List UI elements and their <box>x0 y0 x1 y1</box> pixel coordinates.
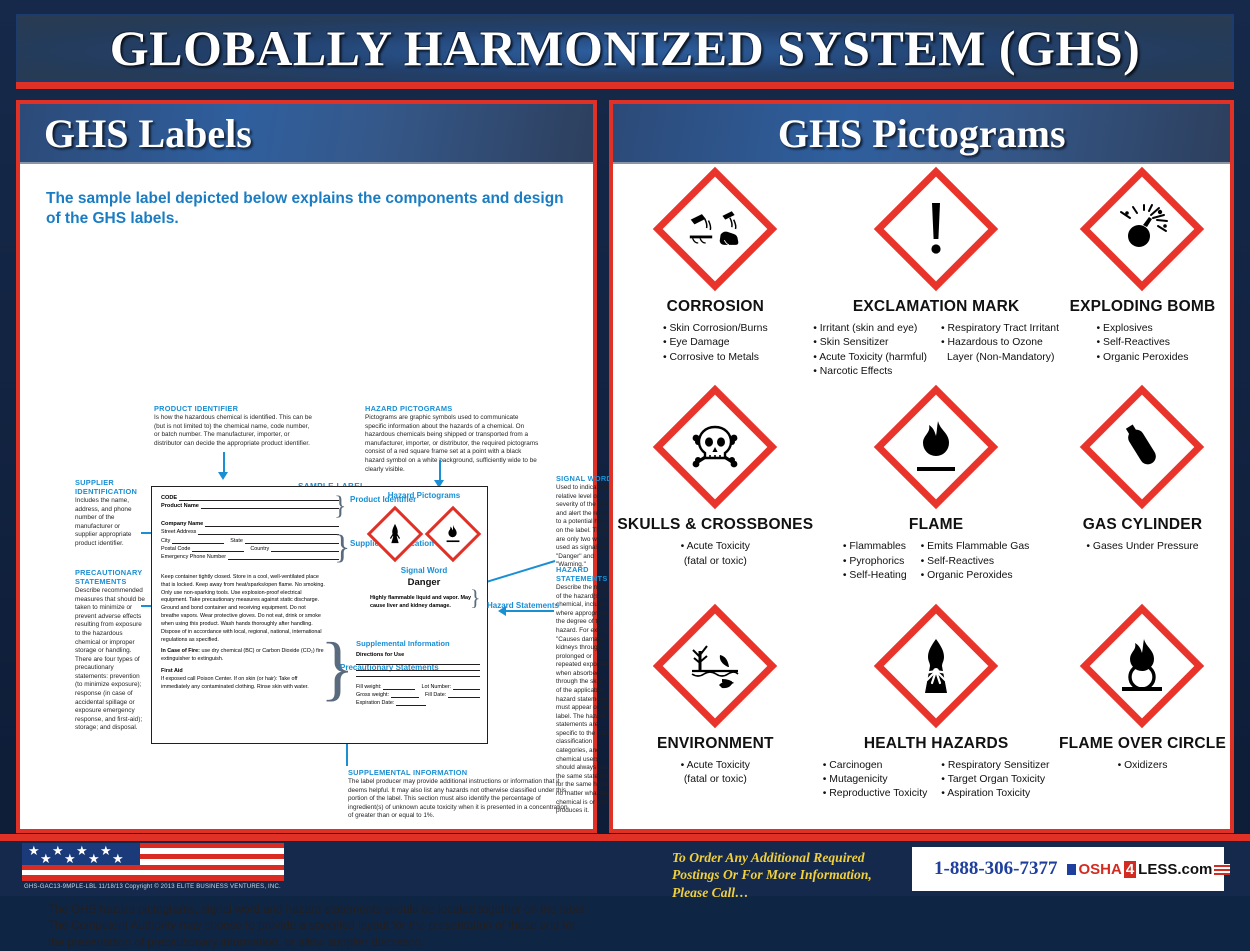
list-item: • Skin Sensitizer <box>813 336 927 350</box>
section-body: The GHS hazard pictograms, signal word a… <box>48 902 588 951</box>
order-instructions: To Order Any Additional Required Posting… <box>672 849 872 901</box>
list-item: • Gases Under Pressure <box>1086 540 1198 554</box>
exclamation-mark-icon <box>899 192 973 266</box>
diamond-wrap <box>671 170 759 288</box>
exploding-bomb-icon <box>1105 192 1179 266</box>
bullet-list-left: • Acute Toxicity (fatal or toxic) <box>681 540 750 569</box>
field-line <box>448 692 480 698</box>
diamond-wrap <box>671 388 759 506</box>
field-line <box>245 538 339 544</box>
pictograms-caption: Hazard Pictograms <box>364 491 484 500</box>
sample-hazard-text: Highly flammable liquid and vapor. May c… <box>370 595 476 610</box>
blank-line <box>356 676 480 677</box>
gas-cylinder-icon <box>1105 410 1179 484</box>
pictogram-cell-exploding-bomb: EXPLODING BOMB • Explosives • Self-React… <box>1059 170 1226 388</box>
note-hazard-pictograms: HAZARD PICTOGRAMS Pictograms are graphic… <box>365 404 541 474</box>
pictogram-grid: CORROSION • Skin Corrosion/Burns • Eye D… <box>613 164 1230 829</box>
fire-label: In Case of Fire: <box>161 648 200 654</box>
list-item: • Oxidizers <box>1118 759 1168 773</box>
pictogram-bullets: • Carcinogen • Mutagenicity • Reproducti… <box>823 759 1050 802</box>
note-heading: SUPPLEMENTAL INFORMATION <box>348 768 570 777</box>
list-item: (fatal or toxic) <box>681 555 750 569</box>
diamond-frame <box>653 385 777 509</box>
bullet-list-left: • Skin Corrosion/Burns • Eye Damage • Co… <box>663 322 768 365</box>
list-item: (fatal or toxic) <box>681 773 750 787</box>
precautionary-statements-text: Keep container tightly closed. Store in … <box>161 574 325 692</box>
diamond-frame <box>653 603 777 727</box>
diamond-wrap <box>892 170 980 288</box>
field-line <box>228 554 339 560</box>
list-item: • Mutagenicity <box>823 773 928 787</box>
sample-label-box: CODE Product Name } Product Identifier C… <box>151 486 488 744</box>
poster-header: GLOBALLY HARMONIZED SYSTEM (GHS) <box>16 14 1234 82</box>
ghs-pictograms-header: GHS Pictograms <box>613 104 1230 164</box>
connector-product <box>223 452 225 474</box>
list-item: • Self-Heating <box>843 569 907 583</box>
blank-line <box>356 664 480 665</box>
first-aid-label: First Aid <box>161 668 183 674</box>
field-label: Fill weight: <box>356 684 381 690</box>
field-label: City <box>161 538 170 544</box>
field-label: Lot Number: <box>421 684 451 690</box>
pictogram-bullets: • Acute Toxicity (fatal or toxic) <box>681 759 750 788</box>
note-body: Includes the name, address, and phone nu… <box>75 497 141 548</box>
contact-card[interactable]: 1-888-306-7377 OSHA 4 LESS.com <box>912 847 1224 891</box>
diamond-frame <box>874 385 998 509</box>
supplemental-information-block: Supplemental Information Directions for … <box>356 639 480 709</box>
pictogram-name: ENVIRONMENT <box>657 735 774 753</box>
diamond-frame <box>653 167 777 291</box>
mini-health-hazard-icon <box>367 506 424 563</box>
note-body: Describe recommended measures that shoul… <box>75 587 145 733</box>
note-precautionary-statements: PRECAUTIONARY STATEMENTS Describe recomm… <box>75 568 145 733</box>
field-label: Company Name <box>161 521 203 527</box>
bullet-list-left: • Explosives • Self-Reactives • Organic … <box>1096 322 1188 365</box>
panels-container: GHS Labels The sample label depicted bel… <box>16 100 1234 833</box>
field-label: Postal Code <box>161 546 190 552</box>
field-label: Street Address <box>161 529 196 535</box>
list-item: • Target Organ Toxicity <box>941 773 1049 787</box>
pictogram-cell-gas-cylinder: GAS CYLINDER • Gases Under Pressure <box>1059 388 1226 606</box>
pictogram-name: HEALTH HAZARDS <box>864 735 1009 753</box>
diamond-wrap <box>1098 170 1186 288</box>
order-line-2: Postings Or For More Information, <box>672 866 872 883</box>
diamond-frame <box>874 167 998 291</box>
ghs-labels-panel: GHS Labels The sample label depicted bel… <box>16 100 597 833</box>
header-red-rule <box>16 82 1234 89</box>
list-item: • Carcinogen <box>823 759 928 773</box>
first-aid-text: If exposed call Poison Center. If on ski… <box>161 676 325 692</box>
pictogram-cell-skull-crossbones: SKULLS & CROSSBONES • Acute Toxicity (fa… <box>617 388 813 606</box>
field-line <box>201 503 339 509</box>
ghs-labels-body: The sample label depicted below explains… <box>20 164 593 829</box>
pictogram-cell-exclamation-mark: EXCLAMATION MARK • Irritant (skin and ey… <box>813 170 1059 388</box>
note-supplier-identification: SUPPLIER IDENTIFICATION Includes the nam… <box>75 478 141 549</box>
phone-number[interactable]: 1-888-306-7377 <box>934 858 1057 880</box>
note-heading: HAZARD PICTOGRAMS <box>365 404 541 413</box>
note-heading: PRECAUTIONARY STATEMENTS <box>75 568 145 586</box>
list-item: • Flammables <box>843 540 907 554</box>
logo-square <box>1067 864 1076 875</box>
pictogram-bullets: • Irritant (skin and eye) • Skin Sensiti… <box>813 322 1059 379</box>
field-label: Product Name <box>161 503 199 509</box>
pictogram-cell-environment: ENVIRONMENT • Acute Toxicity (fatal or t… <box>617 607 813 825</box>
field-line <box>192 546 244 552</box>
copyright-text: GHS-GAC13-9MPLE-LBL 11/18/13 Copyright ©… <box>24 884 281 890</box>
list-item: • Emits Flammable Gas <box>921 540 1030 554</box>
pictogram-name: CORROSION <box>667 298 764 316</box>
osha4less-logo[interactable]: OSHA 4 LESS.com <box>1067 861 1230 878</box>
connector-pictograms <box>439 460 441 482</box>
field-label: CODE <box>161 495 177 501</box>
list-item: • Skin Corrosion/Burns <box>663 322 768 336</box>
list-item: • Hazardous to Ozone <box>941 336 1059 350</box>
note-heading: PRODUCT IDENTIFIER <box>154 404 314 413</box>
pictogram-cell-flame: FLAME • Flammables • Pyrophorics • Self-… <box>813 388 1059 606</box>
field-label: Fill Date: <box>425 692 446 698</box>
pictogram-name: SKULLS & CROSSBONES <box>617 516 813 534</box>
supplier-identification-fields: Company Name Street Address City State P… <box>161 521 339 560</box>
list-item: • Respiratory Sensitizer <box>941 759 1049 773</box>
blank-line <box>356 670 480 671</box>
list-item: • Respiratory Tract Irritant <box>941 322 1059 336</box>
ghs-pictograms-panel: GHS Pictograms <box>609 100 1234 833</box>
bullet-list-left: • Flammables • Pyrophorics • Self-Heatin… <box>843 540 907 583</box>
logo-four-text: 4 <box>1124 861 1136 878</box>
diamond-wrap <box>1098 388 1186 506</box>
list-item: • Narcotic Effects <box>813 365 927 379</box>
bullet-list-right: • Emits Flammable Gas • Self-Reactives •… <box>921 540 1030 583</box>
precautionary-body: Keep container tightly closed. Store in … <box>161 574 325 643</box>
logo-osha-text: OSHA <box>1078 861 1121 878</box>
environment-icon <box>678 629 752 703</box>
brace-hazard: } <box>470 585 481 611</box>
bullet-list-left: • Acute Toxicity (fatal or toxic) <box>681 759 750 788</box>
skull-crossbones-icon <box>678 410 752 484</box>
product-identifier-fields: CODE Product Name <box>161 495 339 509</box>
directions-label: Directions for Use <box>356 652 480 658</box>
supplemental-heading: Supplemental Information <box>356 639 480 648</box>
field-line <box>198 529 339 535</box>
mini-flame-icon <box>425 506 482 563</box>
list-item: • Organic Peroxides <box>1096 351 1188 365</box>
bullet-list-left: • Carcinogen • Mutagenicity • Reproducti… <box>823 759 928 802</box>
list-item: • Acute Toxicity <box>681 540 750 554</box>
field-label: Expiration Date: <box>356 700 394 706</box>
pictogram-name: EXCLAMATION MARK <box>853 298 1020 316</box>
list-item: • Eye Damage <box>663 336 768 350</box>
pictogram-bullets: • Explosives • Self-Reactives • Organic … <box>1096 322 1188 365</box>
list-item: • Pyrophorics <box>843 555 907 569</box>
field-line <box>205 521 339 527</box>
ghs-labels-header: GHS Labels <box>20 104 593 164</box>
arrow-product-down-icon <box>218 472 228 480</box>
list-item: Layer (Non-Mandatory) <box>941 351 1059 365</box>
note-body: The label producer may provide additiona… <box>348 778 570 821</box>
pictogram-cell-health-hazards: HEALTH HAZARDS • Carcinogen • Mutagenici… <box>813 607 1059 825</box>
order-line-1: To Order Any Additional Required <box>672 849 872 866</box>
list-item: • Acute Toxicity <box>681 759 750 773</box>
bullet-list-left: • Gases Under Pressure <box>1086 540 1198 554</box>
diamond-frame <box>1080 385 1204 509</box>
field-line <box>391 692 419 698</box>
signal-word-caption: Signal Word <box>364 566 484 575</box>
corrosion-icon <box>678 192 752 266</box>
list-item: • Explosives <box>1096 322 1188 336</box>
note-body: Is how the hazardous chemical is identif… <box>154 414 314 448</box>
page-title: GLOBALLY HARMONIZED SYSTEM (GHS) <box>110 19 1141 77</box>
list-item: • Self-Reactives <box>921 555 1030 569</box>
pictogram-bullets: • Oxidizers <box>1118 759 1168 773</box>
logo-bars <box>1214 864 1230 875</box>
usa-flag-graphic: ★ ★ ★ ★ ★ ★ ★ ★ <box>22 843 284 881</box>
diamond-frame <box>1080 603 1204 727</box>
pictogram-cell-flame-over-circle: FLAME OVER CIRCLE • Oxidizers <box>1059 607 1226 825</box>
pictogram-name: GAS CYLINDER <box>1083 516 1203 534</box>
health-hazard-icon <box>899 629 973 703</box>
field-line <box>396 700 426 706</box>
note-supplemental-information: SUPPLEMENTAL INFORMATION The label produ… <box>348 768 570 821</box>
flame-over-circle-icon <box>1105 629 1179 703</box>
brace-supplier-identification: } <box>334 529 350 567</box>
ghs-labels-title: GHS Labels <box>20 110 252 157</box>
flag-canton: ★ ★ ★ ★ ★ ★ ★ ★ <box>22 843 140 865</box>
pictogram-bullets: • Skin Corrosion/Burns • Eye Damage • Co… <box>663 322 768 365</box>
field-line <box>179 495 339 501</box>
list-item: • Self-Reactives <box>1096 336 1188 350</box>
list-item: • Organic Peroxides <box>921 569 1030 583</box>
ghs-pictograms-title: GHS Pictograms <box>778 110 1066 157</box>
pictogram-name: EXPLODING BOMB <box>1070 298 1216 316</box>
connector-signal <box>482 560 555 584</box>
note-product-identifier: PRODUCT IDENTIFIER Is how the hazardous … <box>154 404 314 448</box>
diamond-wrap <box>1098 607 1186 725</box>
sample-pictogram-area: Hazard Pictograms Signal Word Danger <box>364 491 484 588</box>
list-item: • Aspiration Toxicity <box>941 787 1049 801</box>
pictogram-bullets: • Flammables • Pyrophorics • Self-Heatin… <box>843 540 1029 583</box>
list-item: • Acute Toxicity (harmful) <box>813 351 927 365</box>
field-label: Country <box>250 546 269 552</box>
brace-product-identifier: } <box>334 491 346 521</box>
field-label: State <box>230 538 243 544</box>
field-line <box>383 684 415 690</box>
logo-less-text: LESS.com <box>1138 861 1212 878</box>
list-item: • Reproductive Toxicity <box>823 787 928 801</box>
labels-intro-text: The sample label depicted below explains… <box>20 164 593 230</box>
list-item: • Corrosive to Metals <box>663 351 768 365</box>
pictogram-bullets: • Acute Toxicity (fatal or toxic) <box>681 540 750 569</box>
list-item: • Irritant (skin and eye) <box>813 322 927 336</box>
sample-pictogram-row <box>364 514 484 554</box>
diamond-wrap <box>671 607 759 725</box>
field-label: Emergency Phone Number <box>161 554 226 560</box>
note-body: Pictograms are graphic symbols used to c… <box>365 414 541 474</box>
diamond-wrap <box>892 607 980 725</box>
field-line <box>453 684 480 690</box>
pictogram-cell-corrosion: CORROSION • Skin Corrosion/Burns • Eye D… <box>617 170 813 388</box>
flame-icon <box>899 410 973 484</box>
diamond-frame <box>874 603 998 727</box>
bullet-list-left: • Oxidizers <box>1118 759 1168 773</box>
diamond-wrap <box>892 388 980 506</box>
bullet-list-left: • Irritant (skin and eye) • Skin Sensiti… <box>813 322 927 379</box>
poster-footer: ★ ★ ★ ★ ★ ★ ★ ★ GHS-GAC13-9MPLE-LBL 11/1… <box>0 834 1250 896</box>
bullet-list-right: • Respiratory Sensitizer • Target Organ … <box>941 759 1049 802</box>
signal-word-value: Danger <box>364 577 484 588</box>
note-heading: SUPPLIER IDENTIFICATION <box>75 478 141 496</box>
pictogram-name: FLAME OVER CIRCLE <box>1059 735 1226 753</box>
pictogram-name: FLAME <box>909 516 963 534</box>
diamond-frame <box>1080 167 1204 291</box>
poster-root: GLOBALLY HARMONIZED SYSTEM (GHS) GHS Lab… <box>0 0 1250 896</box>
bullet-list-right: • Respiratory Tract Irritant • Hazardous… <box>941 322 1059 379</box>
order-line-3: Please Call… <box>672 884 872 901</box>
group-label-hazard-statements: Hazard Statements <box>487 601 559 611</box>
pictogram-bullets: • Gases Under Pressure <box>1086 540 1198 554</box>
field-label: Gross weight: <box>356 692 389 698</box>
field-line <box>271 546 339 552</box>
field-line <box>172 538 224 544</box>
